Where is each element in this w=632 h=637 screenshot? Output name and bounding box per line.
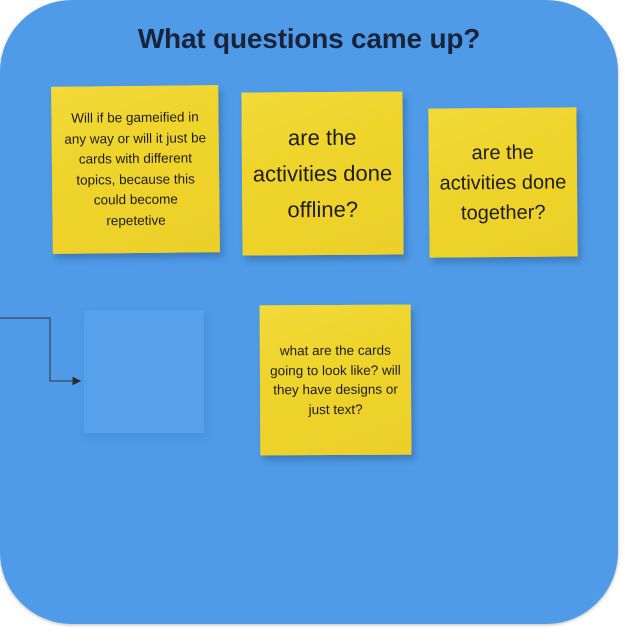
elbow-arrow-connector[interactable] (0, 308, 96, 398)
connector-line (0, 318, 74, 381)
sticky-note-text: what are the cards going to look like? w… (268, 341, 403, 420)
sticky-note[interactable]: what are the cards going to look like? w… (260, 305, 412, 456)
sticky-note-text: are the activities done offline? (250, 119, 396, 228)
sticky-note[interactable]: are the activities done together? (428, 107, 577, 257)
arrowhead-icon (73, 378, 80, 385)
sticky-note[interactable]: are the activities done offline? (241, 91, 403, 255)
sticky-note-text: are the activities done together? (435, 137, 572, 228)
sticky-note[interactable]: Will if be gameified in any way or will … (51, 85, 220, 254)
frame-title: What questions came up? (0, 22, 618, 56)
whiteboard-canvas[interactable]: What questions came up? Will if be gamei… (0, 0, 632, 637)
sticky-note-text: Will if be gameified in any way or will … (61, 107, 209, 232)
